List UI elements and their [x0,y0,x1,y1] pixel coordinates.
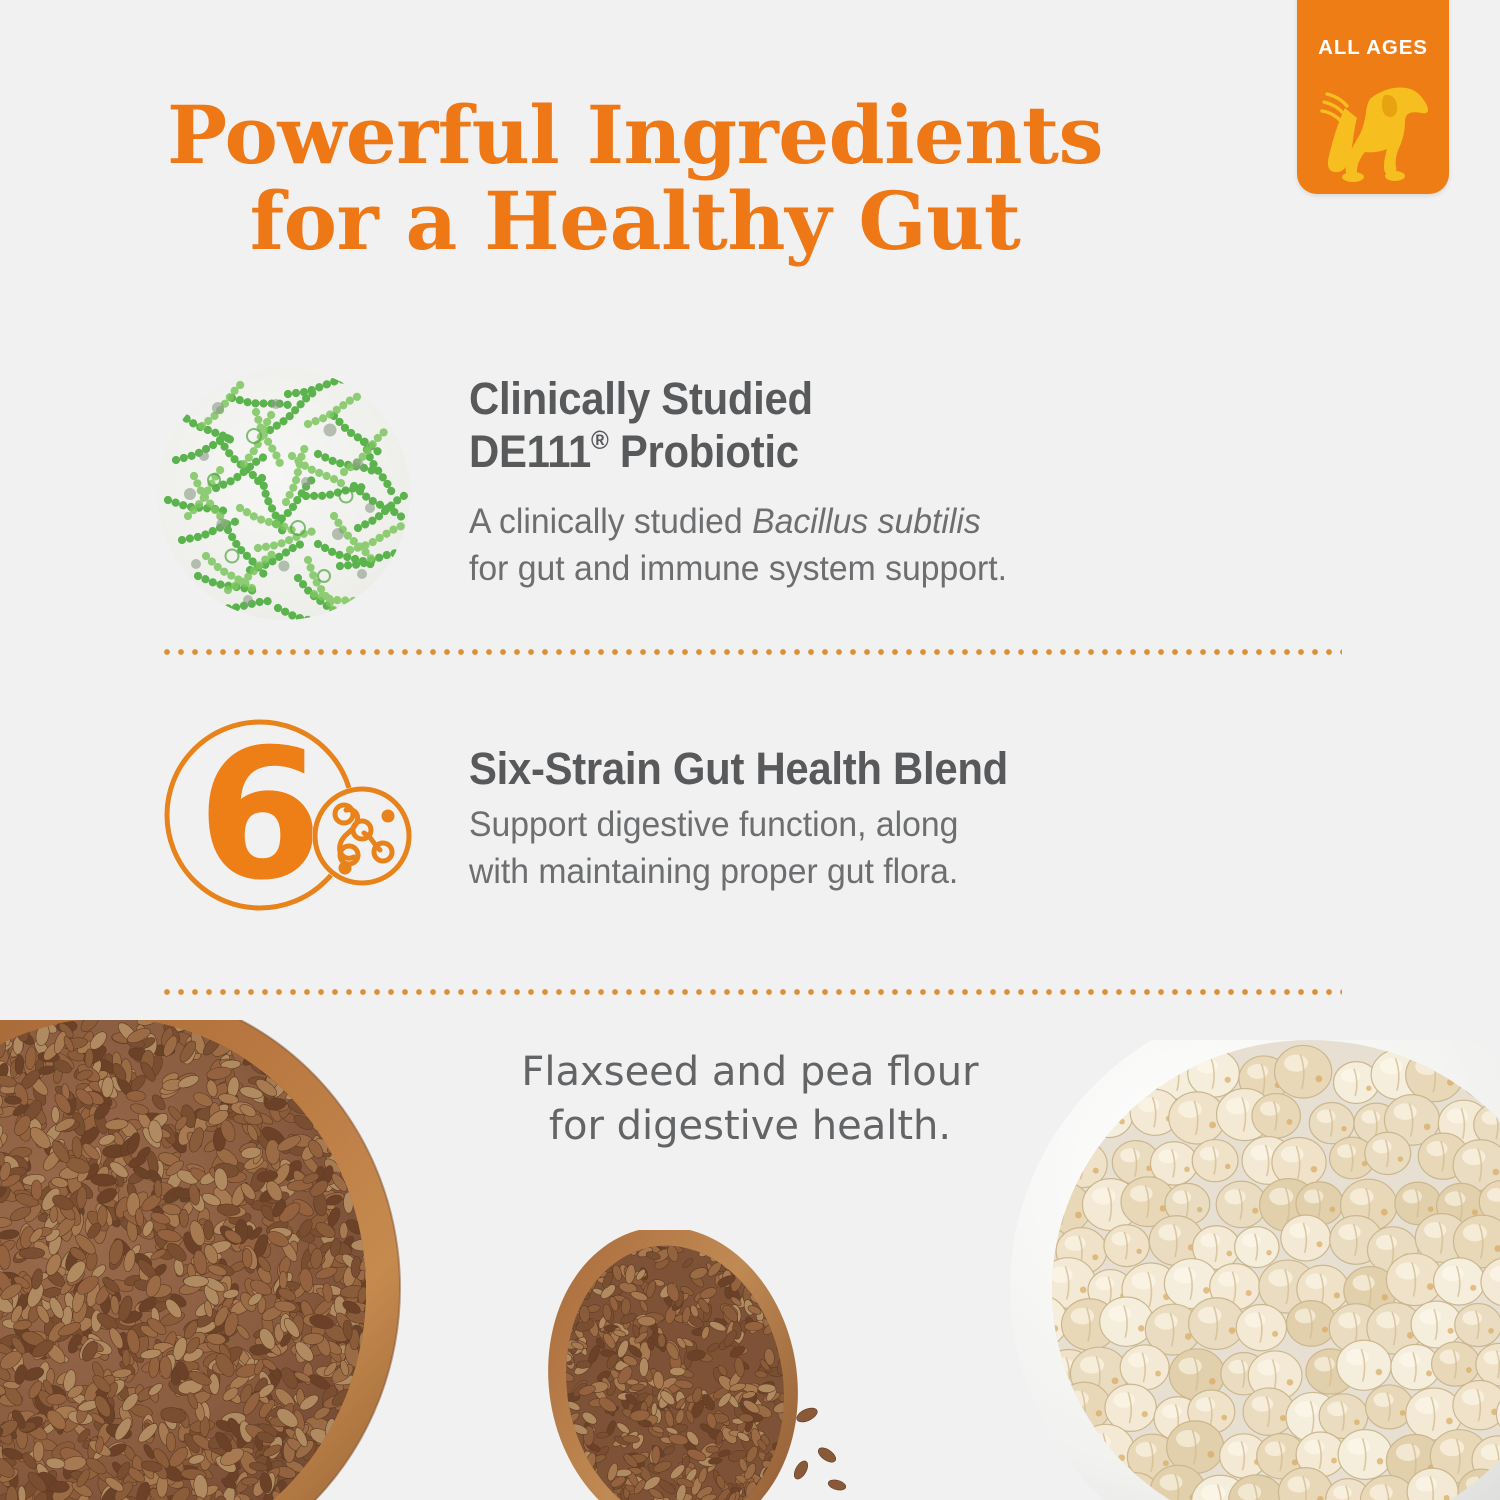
feature-six-strain: 6 Si [150,715,1350,930]
all-ages-badge: ALL AGES [1297,0,1449,194]
divider-2 [160,989,1342,995]
caption-line-1: Flaxseed and pea flour [0,1046,1500,1100]
feature-six-strain-text: Six-Strain Gut Health Blend Support dige… [420,715,1048,896]
body-line2: with maintaining proper gut flora. [469,848,1020,895]
wooden-spoon-of-flaxseed-photo [545,1230,885,1500]
sitting-dog-icon [1309,68,1437,186]
body-line1: Support digestive function, along [469,801,1020,848]
title-line-1: Powerful Ingredients [167,88,1103,182]
feature-probiotic-heading: Clinically Studied DE111® Probiotic [469,372,996,478]
microscope-bacteria-icon [150,360,420,630]
feature-probiotic: Clinically Studied DE111® Probiotic A cl… [150,360,1350,630]
feature-probiotic-heading-suffix: Probiotic [609,426,799,477]
caption-line-2: for digestive health. [0,1100,1500,1154]
feature-probiotic-heading-brand: DE111 [469,426,591,477]
divider-1 [160,649,1342,655]
feature-six-strain-heading: Six-Strain Gut Health Blend [469,742,1008,795]
infographic-page: ALL AGES Powerful Ingredients fo [0,0,1500,1500]
page-title: Powerful Ingredients for a Healthy Gut [0,92,1270,265]
body-text-line2: for gut and immune system support. [469,545,1007,592]
species-name: Bacillus subtilis [752,501,981,541]
feature-six-strain-body: Support digestive function, along with m… [469,801,1020,895]
feature-probiotic-heading-line1: Clinically Studied [469,373,813,424]
bottom-caption: Flaxseed and pea flour for digestive hea… [0,1046,1500,1153]
number-six-microbe-icon: 6 [150,715,420,930]
title-line-2: for a Healthy Gut [0,178,1270,264]
badge-label: ALL AGES [1297,36,1449,60]
body-text-pre: A clinically studied [469,501,752,541]
strain-count-number: 6 [197,715,322,920]
registered-trademark-symbol: ® [591,425,609,455]
feature-probiotic-text: Clinically Studied DE111® Probiotic A cl… [420,360,1035,593]
feature-probiotic-body: A clinically studied Bacillus subtilis f… [469,498,1007,592]
